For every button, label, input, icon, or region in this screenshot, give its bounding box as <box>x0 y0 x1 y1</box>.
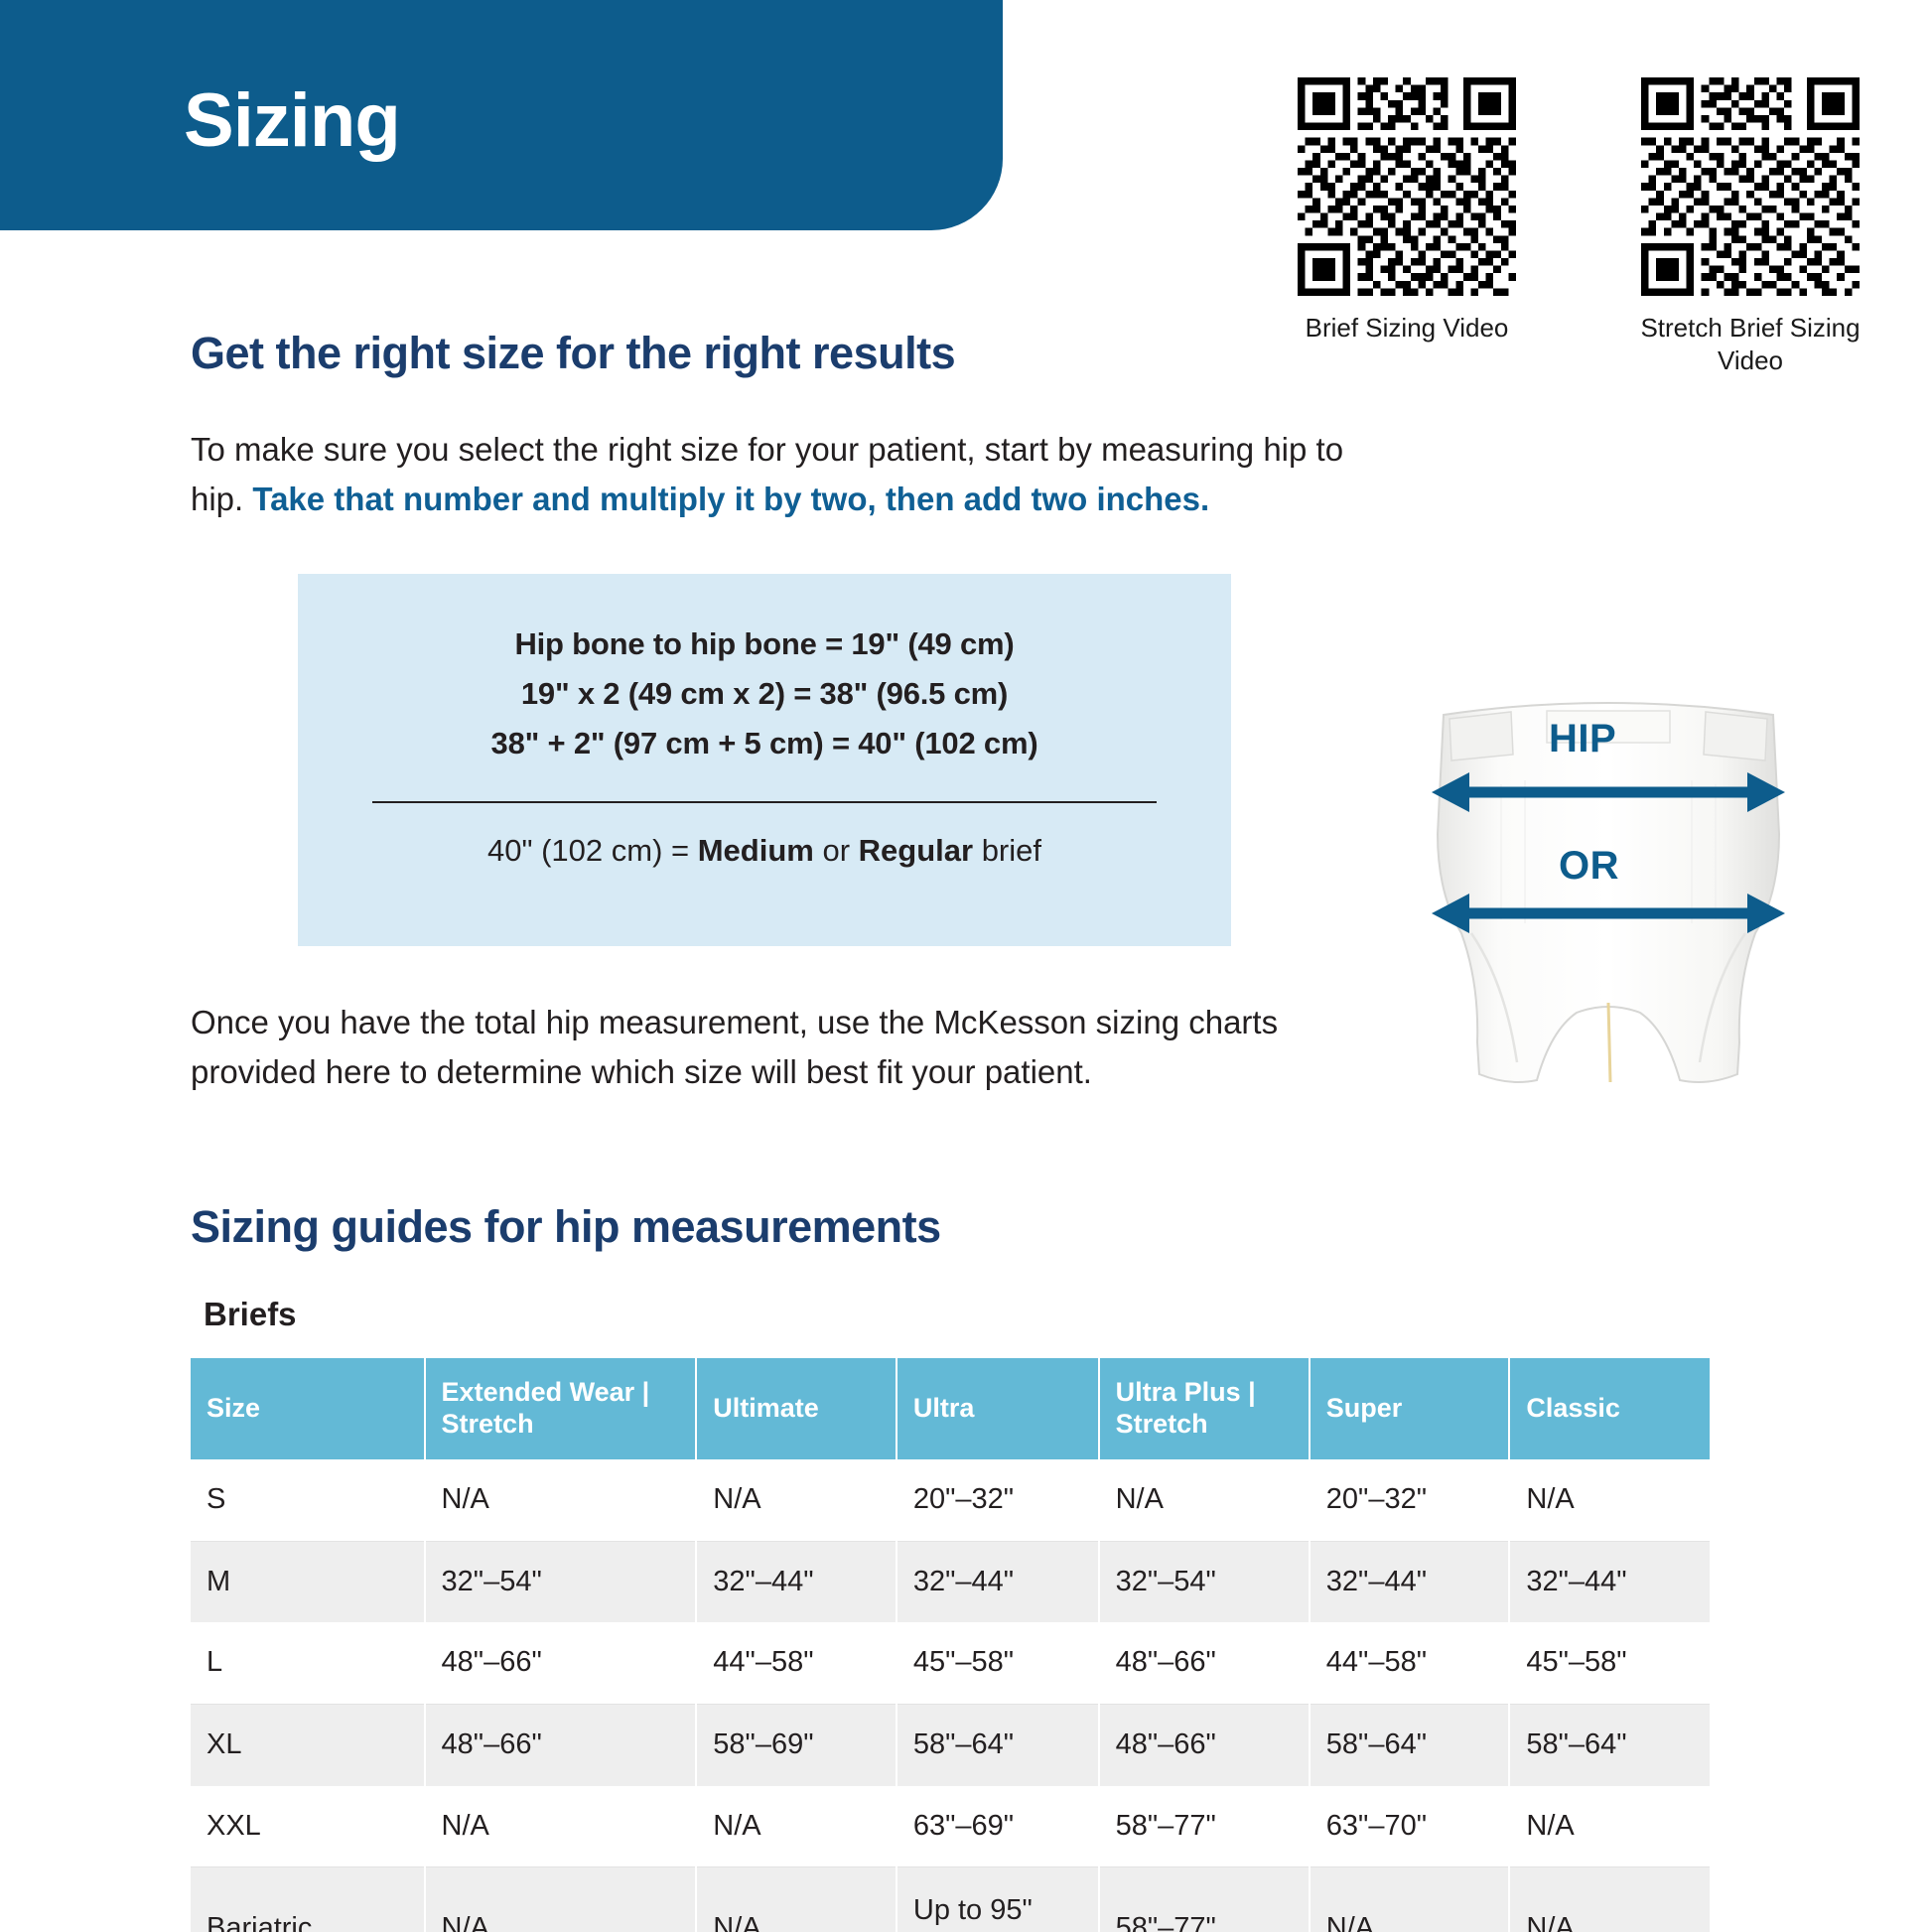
cell-extended-wear: 48"–66" <box>425 1622 697 1704</box>
header-banner <box>0 0 1003 230</box>
formula-result-middle: or <box>814 833 859 868</box>
cell-classic: 45"–58" <box>1509 1622 1710 1704</box>
table-row: XXL N/A N/A 63"–69" 58"–77" 63"–70" N/A <box>191 1786 1710 1867</box>
cell-extended-wear: N/A <box>425 1786 697 1867</box>
formula-result: 40" (102 cm) = Medium or Regular brief <box>298 833 1231 869</box>
formula-line-3: 38" + 2" (97 cm + 5 cm) = 40" (102 cm) <box>298 719 1231 768</box>
column-header-extended-wear-stretch: Extended Wear | Stretch <box>425 1358 697 1459</box>
table-header-row: Size Extended Wear | Stretch Ultimate Ul… <box>191 1358 1710 1459</box>
cell-ultra: 20"–32" <box>897 1459 1099 1541</box>
qr-block-brief-sizing-video[interactable]: Brief Sizing Video <box>1283 77 1531 345</box>
product-figure-brief: HIP OR <box>1410 685 1807 1181</box>
cell-extended-wear: 48"–66" <box>425 1705 697 1786</box>
cell-ultimate: N/A <box>696 1786 897 1867</box>
formula-divider <box>372 801 1157 803</box>
column-header-size: Size <box>191 1358 425 1459</box>
qr-block-stretch-brief-sizing-video[interactable]: Stretch Brief Sizing Video <box>1626 77 1874 376</box>
column-header-ultra: Ultra <box>897 1358 1099 1459</box>
briefs-sizing-table: Size Extended Wear | Stretch Ultimate Ul… <box>191 1358 1710 1932</box>
cell-size: L <box>191 1622 425 1704</box>
cell-ultra-plus: 48"–66" <box>1099 1622 1310 1704</box>
column-header-super: Super <box>1310 1358 1510 1459</box>
formula-box: Hip bone to hip bone = 19" (49 cm) 19" x… <box>298 574 1231 946</box>
cell-size: S <box>191 1459 425 1541</box>
cell-ultimate: 44"–58" <box>696 1622 897 1704</box>
column-header-ultra-plus-stretch: Ultra Plus | Stretch <box>1099 1358 1310 1459</box>
cell-super: 63"–70" <box>1310 1786 1510 1867</box>
cell-ultimate: 32"–44" <box>696 1541 897 1622</box>
cell-ultra-plus: N/A <box>1099 1459 1310 1541</box>
or-label: OR <box>1559 844 1619 889</box>
hip-label: HIP <box>1549 717 1616 761</box>
cell-extended-wear: N/A <box>425 1459 697 1541</box>
cell-ultra-plus: 58"–77" <box>1099 1786 1310 1867</box>
qr-caption-brief: Brief Sizing Video <box>1283 312 1531 345</box>
cell-super: 20"–32" <box>1310 1459 1510 1541</box>
page-title: Sizing <box>184 83 400 159</box>
qr-code-icon[interactable] <box>1641 77 1860 296</box>
cell-size: XL <box>191 1705 425 1786</box>
formula-line-2: 19" x 2 (49 cm x 2) = 38" (96.5 cm) <box>298 669 1231 719</box>
cell-ultimate: N/A <box>696 1459 897 1541</box>
cell-classic: 32"–44" <box>1509 1541 1710 1622</box>
formula-result-bold-regular: Regular <box>859 833 973 868</box>
followup-paragraph: Once you have the total hip measurement,… <box>191 998 1303 1097</box>
cell-classic: N/A <box>1509 1459 1710 1541</box>
qr-caption-stretch: Stretch Brief Sizing Video <box>1626 312 1874 376</box>
cell-ultra-plus: 58"–77" <box>1099 1867 1310 1932</box>
cell-super: 44"–58" <box>1310 1622 1510 1704</box>
intro-paragraph: To make sure you select the right size f… <box>191 425 1382 524</box>
cell-ultra-plus: 48"–66" <box>1099 1705 1310 1786</box>
cell-ultimate: 58"–69" <box>696 1705 897 1786</box>
sizing-page: Sizing <box>0 0 1932 1932</box>
cell-super: 32"–44" <box>1310 1541 1510 1622</box>
formula-line-1: Hip bone to hip bone = 19" (49 cm) <box>298 620 1231 669</box>
cell-classic: 58"–64" <box>1509 1705 1710 1786</box>
cell-ultra: 63"–69" <box>897 1786 1099 1867</box>
cell-classic: N/A <box>1509 1786 1710 1867</box>
cell-extended-wear: N/A <box>425 1867 697 1932</box>
heading-sizing-guides: Sizing guides for hip measurements <box>191 1201 941 1253</box>
formula-result-suffix: brief <box>973 833 1041 868</box>
formula-result-bold-medium: Medium <box>698 833 814 868</box>
cell-super: 58"–64" <box>1310 1705 1510 1786</box>
formula-result-prefix: 40" (102 cm) = <box>487 833 698 868</box>
qr-code-icon[interactable] <box>1298 77 1516 296</box>
table-label-briefs: Briefs <box>204 1296 297 1333</box>
heading-get-the-right-size: Get the right size for the right results <box>191 328 955 379</box>
cell-size: XXL <box>191 1786 425 1867</box>
table-row: M 32"–54" 32"–44" 32"–44" 32"–54" 32"–44… <box>191 1541 1710 1622</box>
cell-ultra: Up to 95" Waist <box>897 1867 1099 1932</box>
cell-ultra-plus: 32"–54" <box>1099 1541 1310 1622</box>
cell-ultra: 32"–44" <box>897 1541 1099 1622</box>
cell-ultimate: N/A <box>696 1867 897 1932</box>
cell-size: Bariatric <box>191 1867 425 1932</box>
cell-super: N/A <box>1310 1867 1510 1932</box>
cell-size: M <box>191 1541 425 1622</box>
column-header-ultimate: Ultimate <box>696 1358 897 1459</box>
column-header-classic: Classic <box>1509 1358 1710 1459</box>
table-row: S N/A N/A 20"–32" N/A 20"–32" N/A <box>191 1459 1710 1541</box>
table-row: L 48"–66" 44"–58" 45"–58" 48"–66" 44"–58… <box>191 1622 1710 1704</box>
cell-classic: N/A <box>1509 1867 1710 1932</box>
cell-ultra: 58"–64" <box>897 1705 1099 1786</box>
intro-paragraph-emphasis: Take that number and multiply it by two,… <box>252 481 1209 517</box>
cell-ultra: 45"–58" <box>897 1622 1099 1704</box>
table-row: Bariatric N/A N/A Up to 95" Waist 58"–77… <box>191 1867 1710 1932</box>
cell-extended-wear: 32"–54" <box>425 1541 697 1622</box>
table-row: XL 48"–66" 58"–69" 58"–64" 48"–66" 58"–6… <box>191 1705 1710 1786</box>
